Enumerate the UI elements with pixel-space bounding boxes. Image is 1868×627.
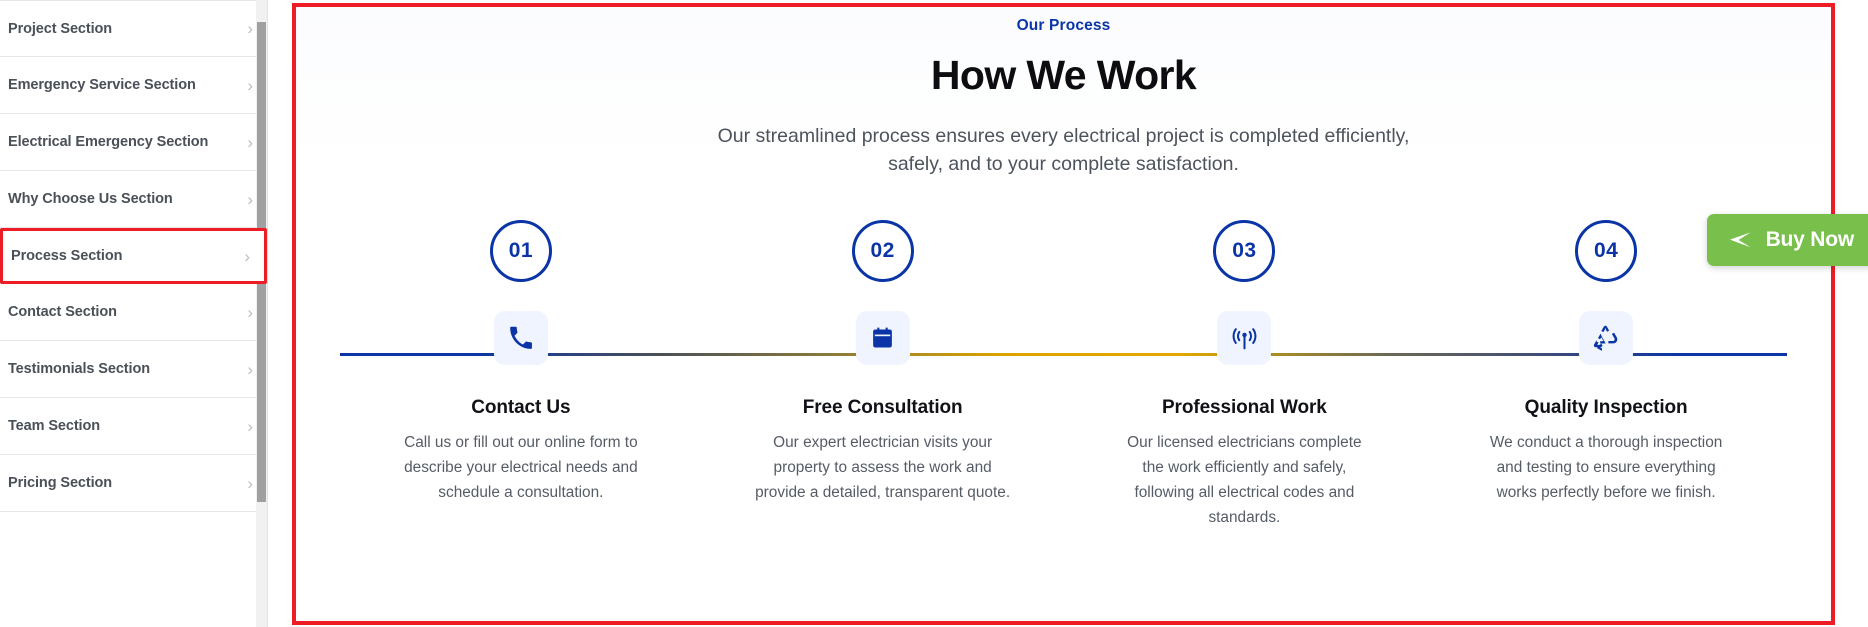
step-description: Call us or fill out our online form to d…: [392, 431, 650, 506]
step-number: 02: [871, 239, 895, 263]
step-title: Professional Work: [1064, 397, 1426, 419]
sidebar-item-label: Process Section: [11, 248, 122, 264]
step-description: Our expert electrician visits your prope…: [754, 431, 1012, 506]
main-preview-area: Our Process How We Work Our streamlined …: [268, 0, 1868, 627]
sidebar-scrollbar-track[interactable]: [256, 0, 267, 627]
broadcast-tower-icon: [1217, 311, 1271, 365]
sidebar-item-label: Why Choose Us Section: [8, 191, 173, 207]
process-connector-line: [340, 353, 1787, 356]
step-title: Free Consultation: [702, 397, 1064, 419]
sidebar-item-label: Electrical Emergency Section: [8, 134, 208, 150]
sidebar-item-why-choose-us-section[interactable]: Why Choose Us Section›: [0, 171, 267, 228]
sidebar-item-label: Emergency Service Section: [8, 77, 196, 93]
screen-root: Project Section›Emergency Service Sectio…: [0, 0, 1868, 627]
chevron-right-icon: ›: [247, 20, 253, 37]
chevron-right-icon: ›: [247, 304, 253, 321]
step-number: 04: [1594, 239, 1618, 263]
step-icon-row: [340, 311, 702, 377]
chevron-right-icon: ›: [247, 475, 253, 492]
process-step: 04Quality InspectionWe conduct a thoroug…: [1425, 220, 1787, 531]
sidebar-item-label: Team Section: [8, 418, 100, 434]
buy-now-label: Buy Now: [1766, 228, 1854, 252]
sidebar-item-electrical-emergency-section[interactable]: Electrical Emergency Section›: [0, 114, 267, 171]
sidebar-item-process-section[interactable]: Process Section›: [0, 228, 267, 284]
step-number-badge: 01: [490, 220, 552, 282]
recycle-icon: [1579, 311, 1633, 365]
process-step: 02Free ConsultationOur expert electricia…: [702, 220, 1064, 531]
step-number-badge: 02: [852, 220, 914, 282]
step-number: 03: [1232, 239, 1256, 263]
send-plane-icon: [1729, 231, 1754, 249]
step-number-badge: 03: [1213, 220, 1275, 282]
section-subtitle: Our streamlined process ensures every el…: [714, 123, 1414, 178]
step-number: 01: [509, 239, 533, 263]
chevron-right-icon: ›: [247, 134, 253, 151]
buy-now-button[interactable]: Buy Now: [1707, 214, 1868, 266]
step-icon-row: [1425, 311, 1787, 377]
sidebar-item-label: Project Section: [8, 21, 112, 37]
sidebar-item-testimonials-section[interactable]: Testimonials Section›: [0, 341, 267, 398]
step-icon-row: [1064, 311, 1426, 377]
process-steps: 01Contact UsCall us or fill out our onli…: [296, 220, 1831, 531]
calendar-icon: [856, 311, 910, 365]
process-step: 03Professional WorkOur licensed electric…: [1064, 220, 1426, 531]
step-description: We conduct a thorough inspection and tes…: [1477, 431, 1735, 506]
step-icon-row: [702, 311, 1064, 377]
phone-icon: [494, 311, 548, 365]
section-eyebrow: Our Process: [296, 17, 1831, 35]
chevron-right-icon: ›: [244, 248, 250, 265]
page-title: How We Work: [296, 52, 1831, 99]
step-title: Contact Us: [340, 397, 702, 419]
process-section: Our Process How We Work Our streamlined …: [296, 7, 1831, 621]
sidebar-item-label: Pricing Section: [8, 475, 112, 491]
sidebar-item-pricing-section[interactable]: Pricing Section›: [0, 455, 267, 512]
chevron-right-icon: ›: [247, 361, 253, 378]
chevron-right-icon: ›: [247, 191, 253, 208]
sections-sidebar: Project Section›Emergency Service Sectio…: [0, 0, 268, 627]
chevron-right-icon: ›: [247, 418, 253, 435]
chevron-right-icon: ›: [247, 77, 253, 94]
process-step: 01Contact UsCall us or fill out our onli…: [340, 220, 702, 531]
sidebar-item-project-section[interactable]: Project Section›: [0, 0, 267, 57]
step-title: Quality Inspection: [1425, 397, 1787, 419]
sidebar-item-label: Contact Section: [8, 304, 117, 320]
sidebar-item-emergency-service-section[interactable]: Emergency Service Section›: [0, 57, 267, 114]
step-number-badge: 04: [1575, 220, 1637, 282]
step-description: Our licensed electricians complete the w…: [1115, 431, 1373, 531]
sidebar-item-contact-section[interactable]: Contact Section›: [0, 284, 267, 341]
sidebar-item-label: Testimonials Section: [8, 361, 150, 377]
sidebar-item-team-section[interactable]: Team Section›: [0, 398, 267, 455]
